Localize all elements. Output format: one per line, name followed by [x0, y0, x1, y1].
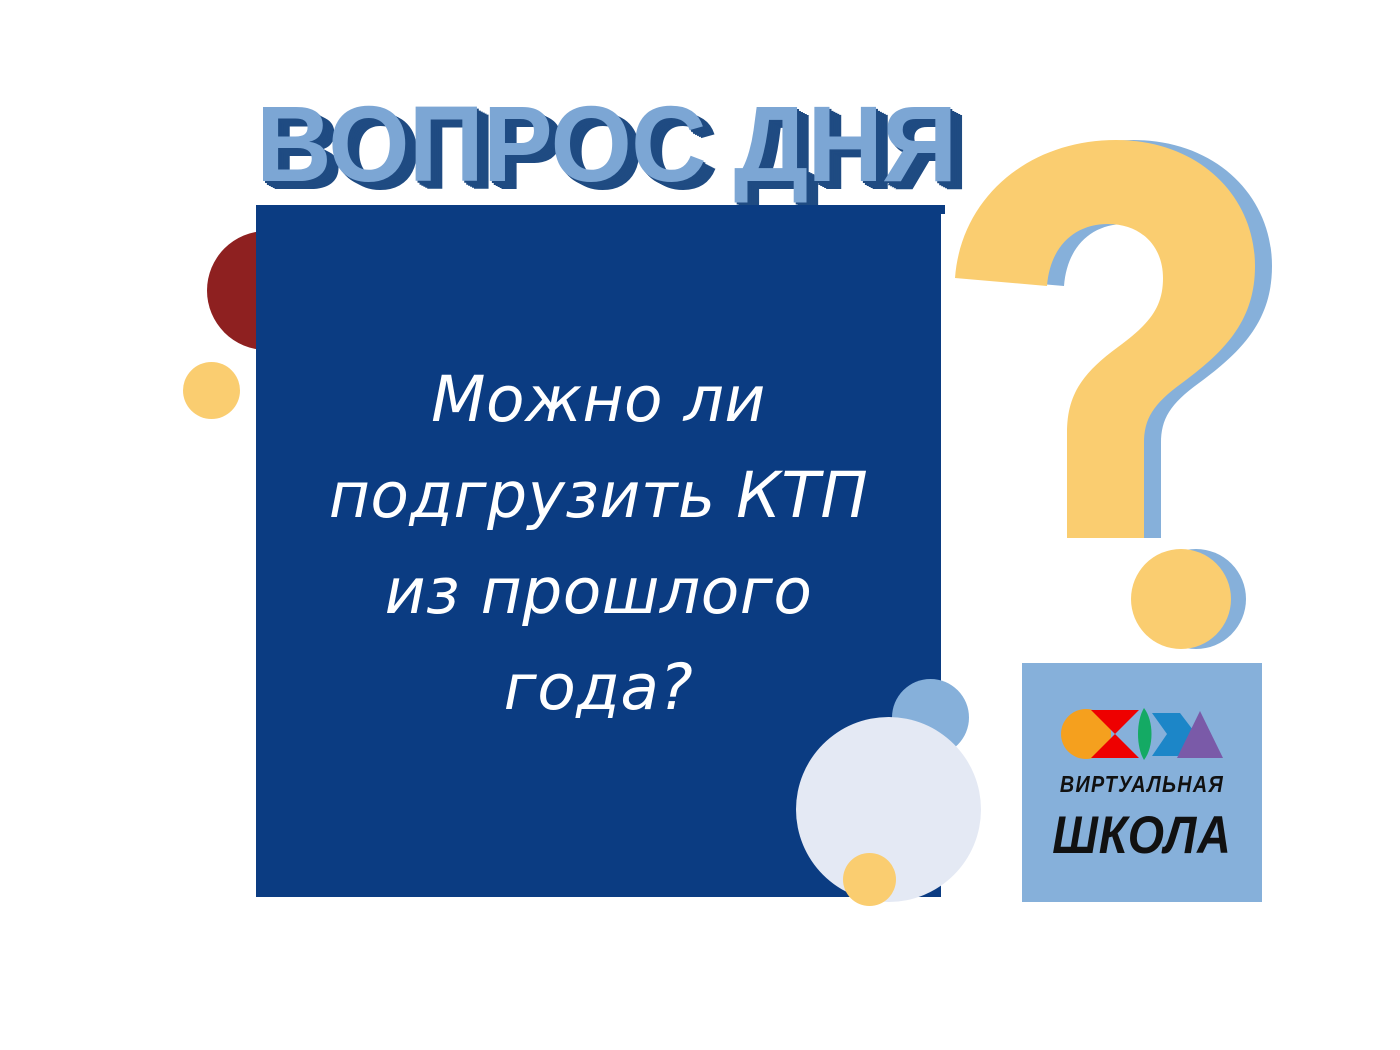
slide-canvas: ВОПРОС ДНЯ Можно ли подгрузить КТП из пр…: [0, 0, 1400, 1050]
yellow-small-circle: [183, 362, 240, 419]
yellow-bottom-circle: [843, 853, 896, 906]
title-block: ВОПРОС ДНЯ: [256, 92, 956, 210]
question-mark-dot: [1131, 549, 1231, 649]
logo-line-1: ВИРТУАЛЬНАЯ: [1039, 771, 1245, 798]
question-line-1: Можно ли: [292, 352, 905, 448]
logo-shapes-group: [1060, 705, 1224, 763]
question-line-3: из прошлого: [292, 544, 905, 640]
question-line-4: года?: [292, 640, 905, 736]
virtual-school-logo: ВИРТУАЛЬНАЯ ШКОЛА: [1022, 663, 1262, 902]
page-title: ВОПРОС ДНЯ: [256, 92, 935, 196]
logo-line-2: ШКОЛА: [1036, 805, 1247, 866]
question-line-2: подгрузить КТП: [292, 448, 905, 544]
question-text: Можно ли подгрузить КТП из прошлого года…: [292, 352, 905, 736]
question-mark-icon: [948, 138, 1278, 558]
green-leaf-shape: [1138, 708, 1152, 760]
title-underline: [256, 205, 945, 214]
